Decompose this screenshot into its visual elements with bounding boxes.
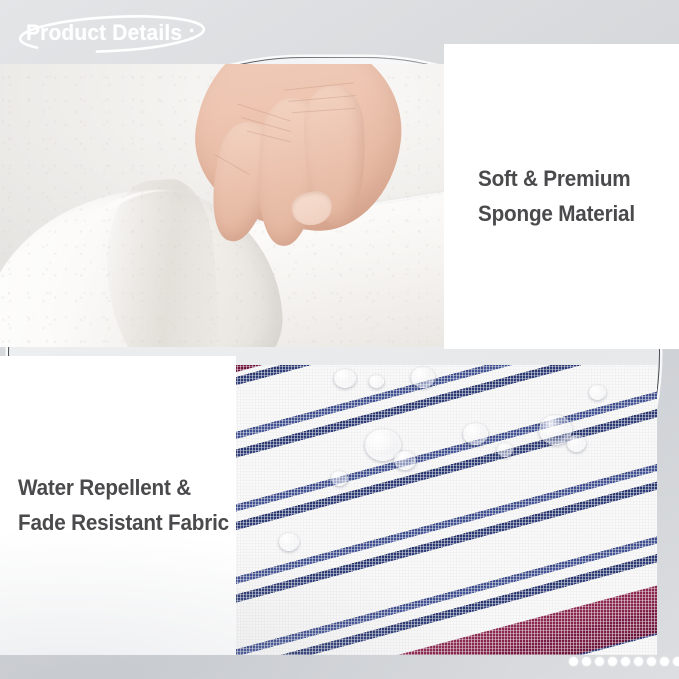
water-droplet	[369, 375, 384, 388]
water-droplet	[334, 369, 356, 388]
pagination-dot[interactable]	[673, 657, 679, 666]
fabric-caption-line-2: Fade Resistant Fabric	[18, 506, 223, 540]
sponge-photo	[0, 64, 460, 347]
water-droplet	[279, 533, 299, 551]
page-title: Product Details :	[14, 14, 210, 54]
sponge-caption-line-1: Soft & Premium	[478, 162, 667, 196]
fabric-weave-highlight	[219, 365, 657, 655]
water-droplet	[463, 423, 488, 445]
pagination-dot[interactable]	[608, 657, 617, 666]
pagination-dot[interactable]	[647, 657, 656, 666]
water-droplet	[394, 451, 416, 470]
fabric-caption-panel: Water Repellent & Fade Resistant Fabric	[0, 356, 236, 655]
fabric-photo	[219, 365, 657, 655]
fabric-caption-line-1: Water Repellent &	[18, 471, 223, 505]
water-droplet	[567, 435, 586, 452]
pagination-dot[interactable]	[569, 657, 578, 666]
water-droplet	[497, 443, 513, 457]
water-droplet	[589, 385, 606, 400]
pagination-dot[interactable]	[660, 657, 669, 666]
product-details-image: Soft & Premium Sponge Material Water Rep…	[0, 0, 679, 679]
pagination-dots[interactable]	[569, 657, 679, 666]
sponge-caption-panel: Soft & Premium Sponge Material	[444, 44, 679, 349]
pagination-dot[interactable]	[621, 657, 630, 666]
page-title-text: Product Details :	[26, 20, 195, 46]
pagination-dot[interactable]	[634, 657, 643, 666]
pagination-dot[interactable]	[595, 657, 604, 666]
water-droplet	[411, 367, 435, 388]
pagination-dot[interactable]	[582, 657, 591, 666]
water-droplet	[331, 471, 348, 486]
sponge-caption-line-2: Sponge Material	[478, 197, 667, 231]
